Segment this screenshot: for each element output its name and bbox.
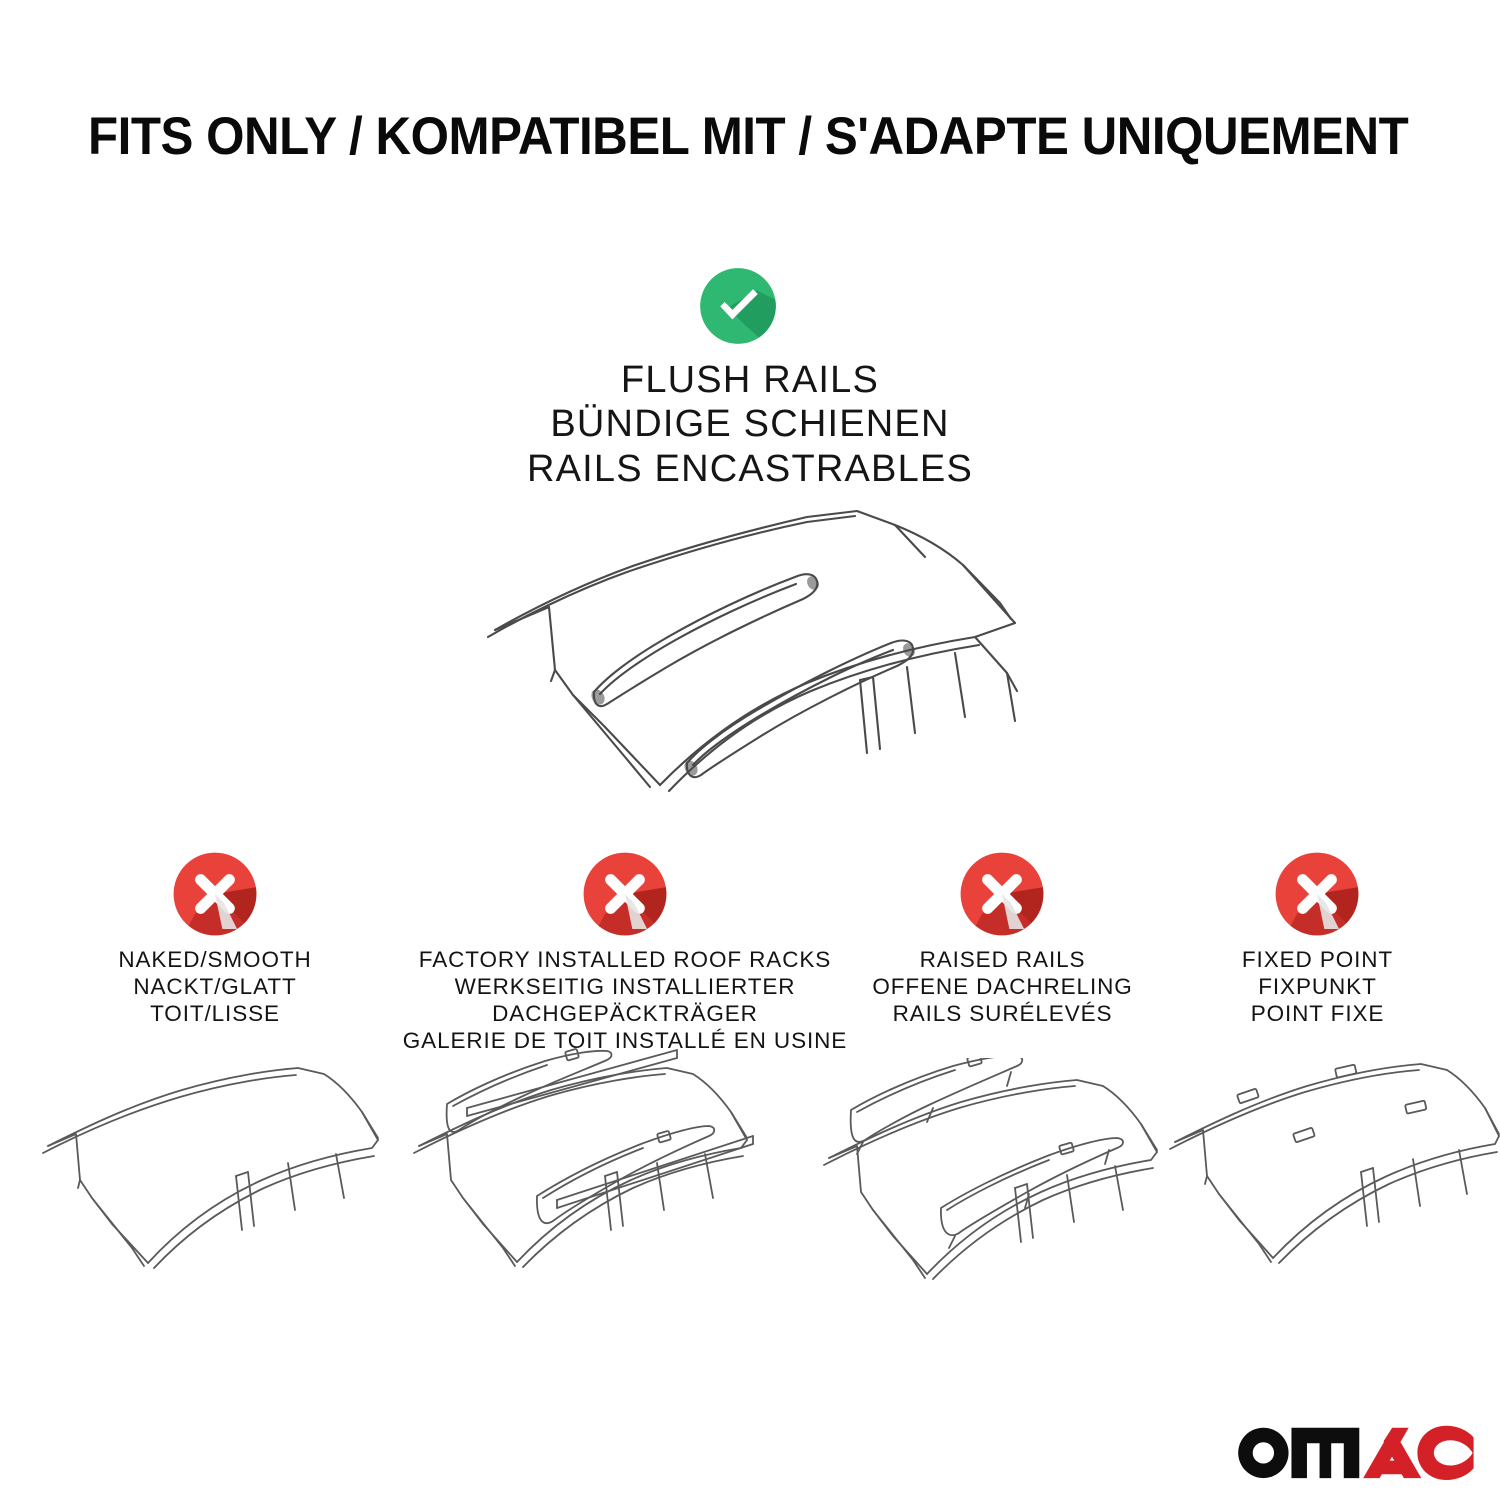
option-caption-group: FIXED POINT FIXPUNKT POINT FIXE	[1155, 946, 1480, 1027]
option-caption-fr: POINT FIXE	[1155, 1000, 1480, 1027]
red-x-icon	[956, 848, 1048, 940]
red-x-icon	[579, 848, 671, 940]
car-roof-raised-rails-illustration	[815, 1058, 1170, 1278]
option-caption-de-1: WERKSEITIG INSTALLIERTER	[400, 973, 850, 1000]
option-caption-en: FIXED POINT	[1155, 946, 1480, 973]
red-x-icon	[1271, 848, 1363, 940]
red-x-icon	[169, 848, 261, 940]
option-caption-de-2: DACHGEPÄCKTRÄGER	[400, 1000, 850, 1027]
option-caption-group: RAISED RAILS OFFENE DACHRELING RAILS SUR…	[825, 946, 1180, 1027]
car-roof-fixed-points-illustration	[1165, 1058, 1490, 1278]
option-caption-fr: RAILS SURÉLEVÉS	[825, 1000, 1180, 1027]
car-roof-factory-crossbars-illustration	[405, 1048, 855, 1273]
compatible-label-group: FLUSH RAILS BÜNDIGE SCHIENEN RAILS ENCAS…	[250, 358, 1250, 491]
page-title: FITS ONLY / KOMPATIBEL MIT / S'ADAPTE UN…	[88, 108, 1325, 165]
omac-logo	[1230, 1418, 1475, 1480]
green-check-icon	[695, 263, 781, 349]
option-caption-de: NACKT/GLATT	[45, 973, 385, 1000]
option-caption-group: FACTORY INSTALLED ROOF RACKS WERKSEITIG …	[400, 946, 850, 1054]
option-caption-en: NAKED/SMOOTH	[45, 946, 385, 973]
option-caption-en: FACTORY INSTALLED ROOF RACKS	[400, 946, 850, 973]
option-caption-group: NAKED/SMOOTH NACKT/GLATT TOIT/LISSE	[45, 946, 385, 1027]
compatible-label-de: BÜNDIGE SCHIENEN	[250, 402, 1250, 446]
compatible-label-fr: RAILS ENCASTRABLES	[250, 447, 1250, 491]
fitment-infographic: FITS ONLY / KOMPATIBEL MIT / S'ADAPTE UN…	[0, 0, 1500, 1500]
option-caption-fr: TOIT/LISSE	[45, 1000, 385, 1027]
option-caption-en: RAISED RAILS	[825, 946, 1180, 973]
car-roof-bare-illustration	[40, 1058, 380, 1273]
option-caption-de: FIXPUNKT	[1155, 973, 1480, 1000]
car-roof-flush-rails-illustration	[455, 495, 1055, 795]
option-caption-de: OFFENE DACHRELING	[825, 973, 1180, 1000]
compatible-label-en: FLUSH RAILS	[250, 358, 1250, 402]
